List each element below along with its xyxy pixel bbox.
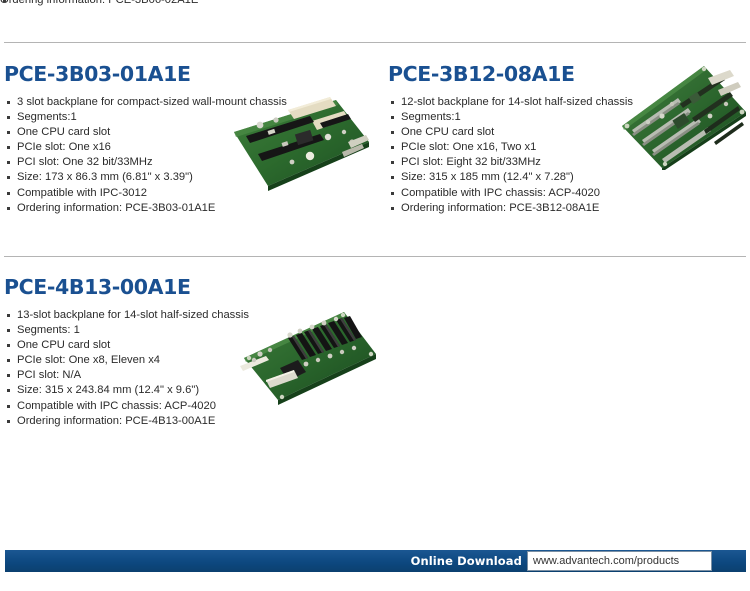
spec-item: Size: 315 x 185 mm (12.4" x 7.28") [388, 170, 750, 185]
product-title: PCE-4B13-00A1E [4, 275, 376, 299]
spec-item: Ordering information: PCE-3B06-02A1E [0, 0, 370, 7]
online-download-label: Online Download [411, 550, 522, 572]
pce-3b12-backplane-photo [618, 62, 750, 170]
spec-item: Compatible with IPC chassis: ACP-4020 [388, 186, 750, 201]
section-divider-top [4, 42, 746, 43]
datasheet-page: Ordering information: PCE-3B06-02A1E PCE… [0, 0, 750, 591]
pce-3b03-backplane-photo [222, 86, 374, 204]
spec-item: Ordering information: PCE-4B13-00A1E [4, 414, 376, 429]
section-divider-middle [4, 256, 746, 257]
product-title: PCE-3B03-01A1E [4, 62, 376, 86]
truncated-top-spec-line: Ordering information: PCE-3B06-02A1E [0, 0, 370, 7]
online-download-url-input[interactable] [527, 551, 712, 571]
spec-item: Ordering information: PCE-3B12-08A1E [388, 201, 750, 216]
pce-4b13-backplane-photo [234, 300, 380, 410]
online-download-label-wrap: Online Download [430, 550, 522, 572]
